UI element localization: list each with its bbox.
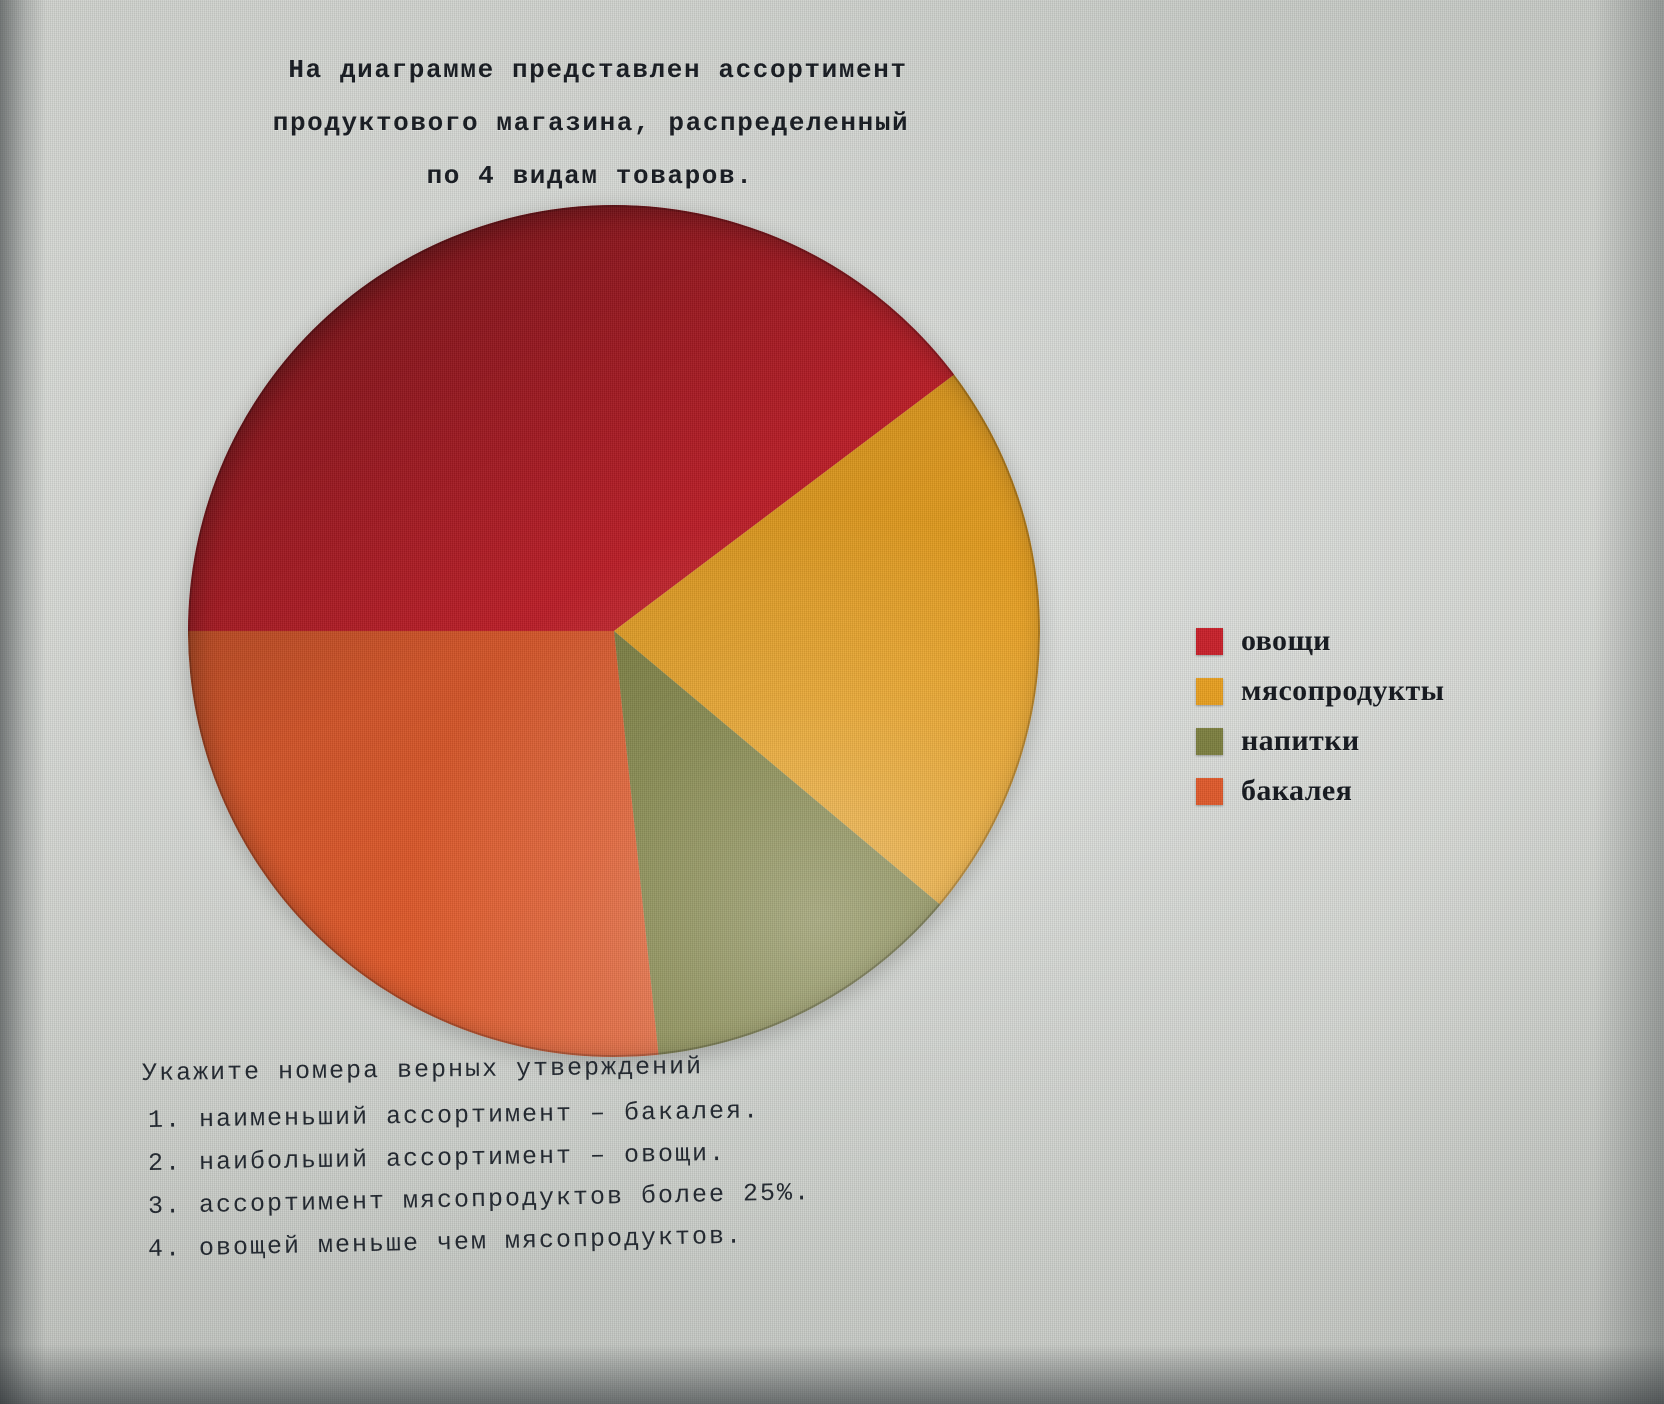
legend-item-napitki[interactable]: напитки: [1196, 716, 1445, 766]
legend-item-myasoprodukty[interactable]: мясопродукты: [1196, 666, 1445, 716]
question-block: Укажите номера верных утверждений 1. наи…: [142, 1052, 1142, 1271]
legend-swatch-bakaleya-icon: [1196, 778, 1223, 805]
page-title: На диаграмме представлен ассортимент про…: [214, 44, 974, 203]
legend-label-bakaleya: бакалея: [1241, 774, 1352, 808]
chart-legend: овощи мясопродукты напитки бакалея: [1196, 616, 1445, 816]
title-line-1: На диаграмме представлен ассортимент: [222, 44, 974, 97]
legend-item-ovoshchi[interactable]: овощи: [1196, 616, 1445, 666]
legend-swatch-myasoprodukty-icon: [1196, 678, 1223, 705]
legend-label-ovoshchi: овощи: [1241, 624, 1331, 658]
pie-chart: [188, 205, 1040, 1057]
title-line-3: по 4 видам товаров.: [206, 150, 974, 203]
pie-disc: [188, 205, 1040, 1057]
legend-label-napitki: напитки: [1241, 724, 1360, 758]
legend-label-myasoprodukty: мясопродукты: [1241, 674, 1445, 708]
legend-swatch-ovoshchi-icon: [1196, 628, 1223, 655]
legend-item-bakaleya[interactable]: бакалея: [1196, 766, 1445, 816]
legend-swatch-napitki-icon: [1196, 728, 1223, 755]
slide-content: На диаграмме представлен ассортимент про…: [0, 0, 1664, 1404]
title-line-2: продуктового магазина, распределенный: [208, 97, 974, 150]
